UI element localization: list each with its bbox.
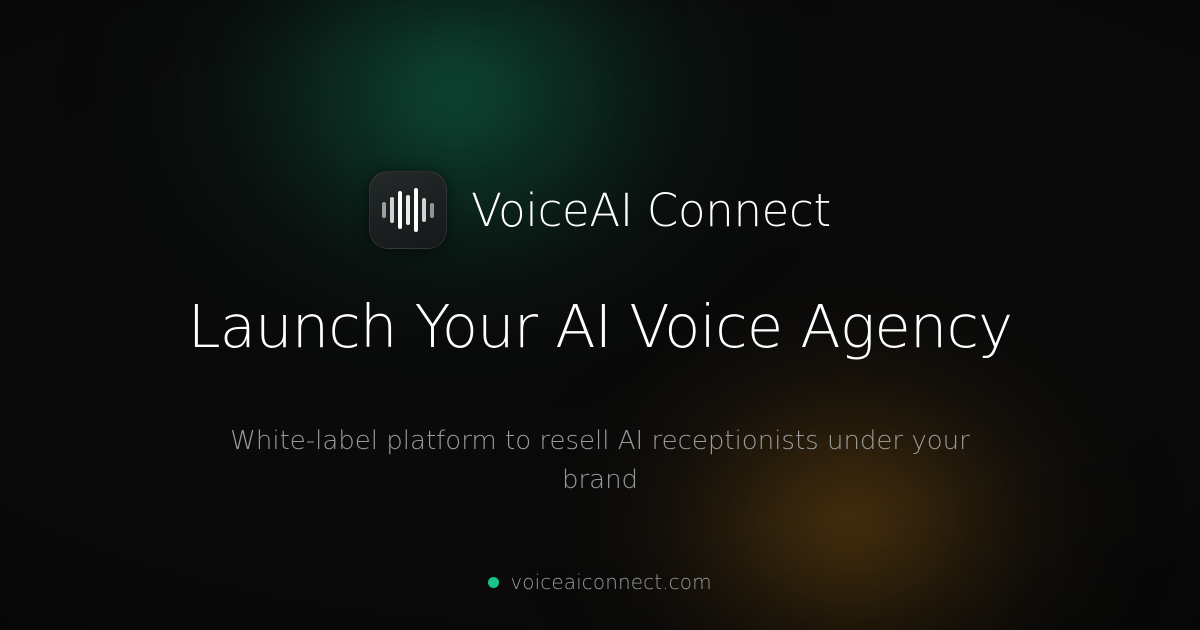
audio-waveform-icon — [382, 189, 435, 231]
footer: voiceaiconnect.com — [0, 572, 1200, 592]
footer-domain: voiceaiconnect.com — [510, 572, 711, 592]
waveform-bar — [390, 197, 395, 223]
waveform-bar — [406, 195, 411, 225]
waveform-bar — [414, 188, 419, 232]
card-content: VoiceAI Connect Launch Your AI Voice Age… — [0, 0, 1200, 630]
brand-logo-tile — [369, 171, 447, 249]
og-card: VoiceAI Connect Launch Your AI Voice Age… — [0, 0, 1200, 630]
brand-name: VoiceAI Connect — [471, 188, 831, 233]
waveform-bar — [422, 198, 427, 222]
waveform-bar — [398, 191, 403, 229]
page-title: Launch Your AI Voice Agency — [188, 295, 1013, 359]
page-subtitle: White-label platform to resell AI recept… — [220, 422, 980, 499]
waveform-bar — [430, 203, 435, 218]
brand-row: VoiceAI Connect — [369, 171, 831, 249]
status-dot-icon — [488, 577, 499, 588]
waveform-bar — [382, 202, 387, 218]
